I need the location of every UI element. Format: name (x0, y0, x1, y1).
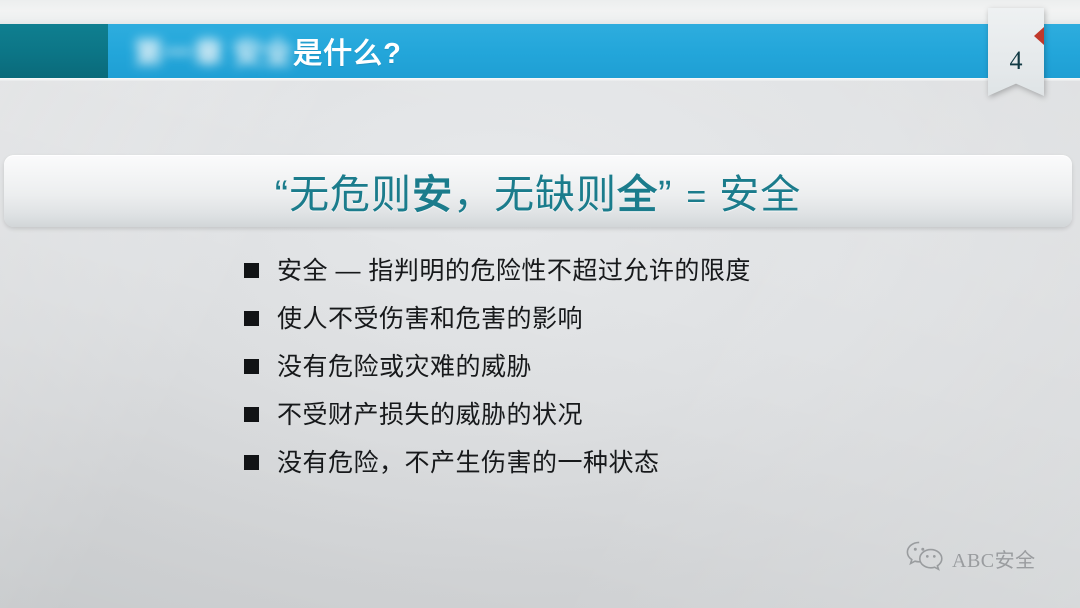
watermark: ABC安全 (905, 540, 1036, 577)
headline-quote-open: “ (275, 173, 289, 217)
list-item: 没有危险或灾难的威胁 (244, 348, 1004, 396)
slide-canvas: 第一章 安全是什么? 4 “无危则安，无缺则全”=安全 安全 — 指判明的危险性… (0, 0, 1080, 608)
page-number-label: 4 (988, 46, 1044, 76)
headline-equals-sign: = (686, 178, 707, 216)
list-item: 安全 — 指判明的危险性不超过允许的限度 (244, 252, 1004, 300)
ribbon-fold-icon (1034, 27, 1044, 45)
headline-bold-an: 安 (412, 173, 453, 217)
headline-bold-quan: 全 (617, 173, 658, 217)
header-title-band: 第一章 安全是什么? (108, 24, 1080, 78)
square-bullet-icon (244, 311, 259, 326)
list-item-label: 不受财产损失的威胁的状况 (277, 396, 583, 434)
headline-text: “无危则安，无缺则全”=安全 (275, 162, 802, 220)
page-title-visible-part: 是什么? (293, 38, 402, 70)
watermark-label: ABC安全 (952, 544, 1036, 573)
list-item-label: 没有危险，不产生伤害的一种状态 (277, 444, 660, 482)
list-item: 没有危险，不产生伤害的一种状态 (244, 444, 1004, 492)
headline-result: 安全 (719, 173, 801, 217)
top-strip (0, 0, 1080, 24)
page-number-badge: 4 (988, 8, 1044, 96)
bullet-list: 安全 — 指判明的危险性不超过允许的限度 使人不受伤害和危害的影响 没有危险或灾… (244, 252, 1004, 492)
headline-comma: ， (453, 173, 494, 217)
slide-header-bar: 第一章 安全是什么? (0, 24, 1080, 78)
list-item-label: 使人不受伤害和危害的影响 (277, 300, 583, 338)
headline-part-1: 无危则 (289, 173, 412, 217)
square-bullet-icon (244, 407, 259, 422)
list-item: 使人不受伤害和危害的影响 (244, 300, 1004, 348)
list-item-label: 没有危险或灾难的威胁 (277, 348, 532, 386)
square-bullet-icon (244, 455, 259, 470)
header-accent-block (0, 24, 108, 78)
list-item: 不受财产损失的威胁的状况 (244, 396, 1004, 444)
square-bullet-icon (244, 263, 259, 278)
page-title-blurred-part: 第一章 安全 (134, 38, 293, 70)
square-bullet-icon (244, 359, 259, 374)
header-underline (0, 78, 1080, 81)
headline-quote-close: ” (658, 173, 672, 217)
page-title: 第一章 安全是什么? (134, 30, 402, 72)
list-item-label: 安全 — 指判明的危险性不超过允许的限度 (277, 252, 751, 290)
headline-part-2: 无缺则 (494, 173, 617, 217)
headline-banner: “无危则安，无缺则全”=安全 (4, 155, 1072, 227)
wechat-icon (905, 540, 945, 577)
